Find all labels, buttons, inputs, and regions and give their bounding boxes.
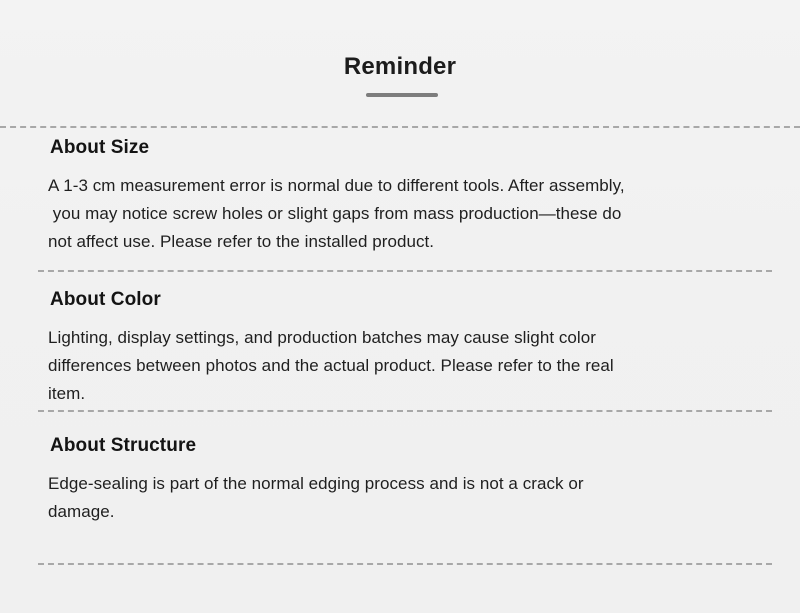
section-about-color: About Color Lighting, display settings, … <box>0 288 800 408</box>
section-heading-about-structure: About Structure <box>50 434 800 458</box>
divider-after-color <box>38 410 772 412</box>
section-heading-about-color: About Color <box>50 288 800 312</box>
section-body-about-size: A 1-3 cm measurement error is normal due… <box>48 172 764 256</box>
divider-top <box>0 126 800 128</box>
reminder-page: Reminder About Size A 1-3 cm measurement… <box>0 0 800 613</box>
page-title: Reminder <box>0 52 800 82</box>
page-header: Reminder <box>0 0 800 122</box>
divider-after-size <box>38 270 772 272</box>
section-body-about-color: Lighting, display settings, and producti… <box>48 324 764 408</box>
section-about-size: About Size A 1-3 cm measurement error is… <box>0 136 800 256</box>
title-underline-rule <box>366 93 438 97</box>
divider-bottom <box>38 563 772 565</box>
section-body-about-structure: Edge-sealing is part of the normal edgin… <box>48 470 764 526</box>
section-about-structure: About Structure Edge-sealing is part of … <box>0 434 800 526</box>
section-heading-about-size: About Size <box>50 136 800 160</box>
